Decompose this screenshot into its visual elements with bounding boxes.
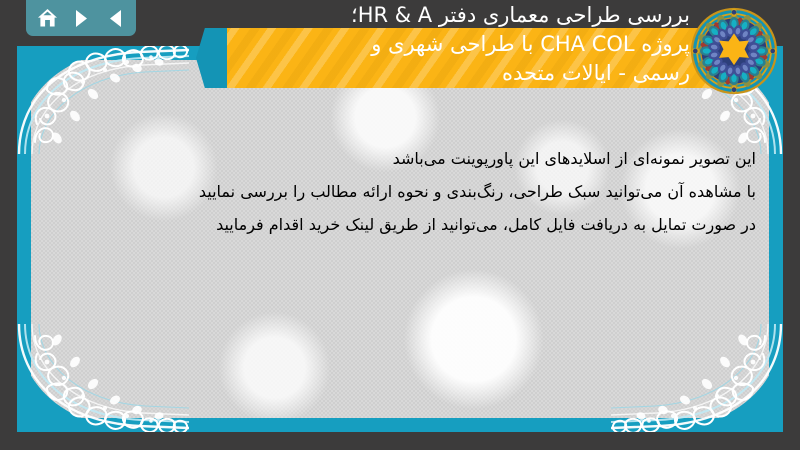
- slide-canvas: بررسی طراحی معماری دفتر HR & A؛ پروژه CH…: [0, 0, 800, 450]
- body-line-2: با مشاهده آن می‌توانید سبک طراحی، رنگ‌بن…: [40, 175, 756, 208]
- navigation-bar: [26, 0, 136, 36]
- house-icon: [37, 8, 58, 28]
- body-line-1: این تصویر نمونه‌ای از اسلایدهای این پاور…: [40, 142, 756, 175]
- slide-body-text: این تصویر نمونه‌ای از اسلایدهای این پاور…: [40, 142, 756, 241]
- next-slide-button[interactable]: [68, 5, 94, 31]
- home-button[interactable]: [34, 5, 60, 31]
- body-line-3: در صورت تمایل به دریافت فایل کامل، می‌تو…: [40, 208, 756, 241]
- title-banner: [227, 28, 747, 88]
- previous-slide-button[interactable]: [102, 5, 128, 31]
- triangle-left-icon: [107, 9, 124, 28]
- triangle-right-icon: [73, 9, 90, 28]
